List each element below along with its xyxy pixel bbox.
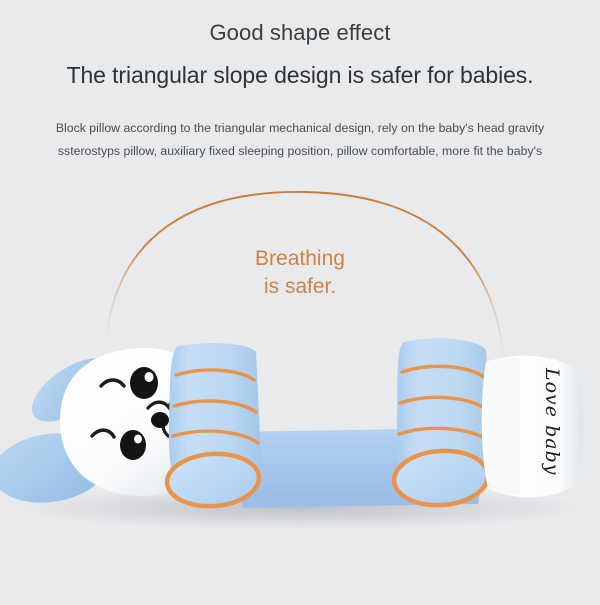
callout-line-2: is safer. — [0, 273, 600, 301]
page-subheadline: The triangular slope design is safer for… — [0, 62, 600, 89]
left-bolster — [165, 343, 262, 509]
page-headline: Good shape effect — [0, 20, 600, 46]
pillow-illustration — [0, 300, 600, 600]
body-line-2: ssterostyps pillow, auxiliary fixed slee… — [0, 140, 600, 163]
right-bolster — [392, 338, 494, 508]
body-copy: Block pillow according to the triangular… — [0, 117, 600, 163]
body-line-1: Block pillow according to the triangular… — [0, 117, 600, 140]
product-marketing-image: Good shape effect The triangular slope d… — [0, 0, 600, 600]
pillow-end-label — [482, 356, 584, 498]
breathing-callout: Breathing is safer. — [0, 245, 600, 301]
eye-lower — [120, 430, 146, 460]
eye-upper — [130, 367, 158, 399]
callout-line-1: Breathing — [0, 245, 600, 273]
nose — [151, 412, 169, 428]
